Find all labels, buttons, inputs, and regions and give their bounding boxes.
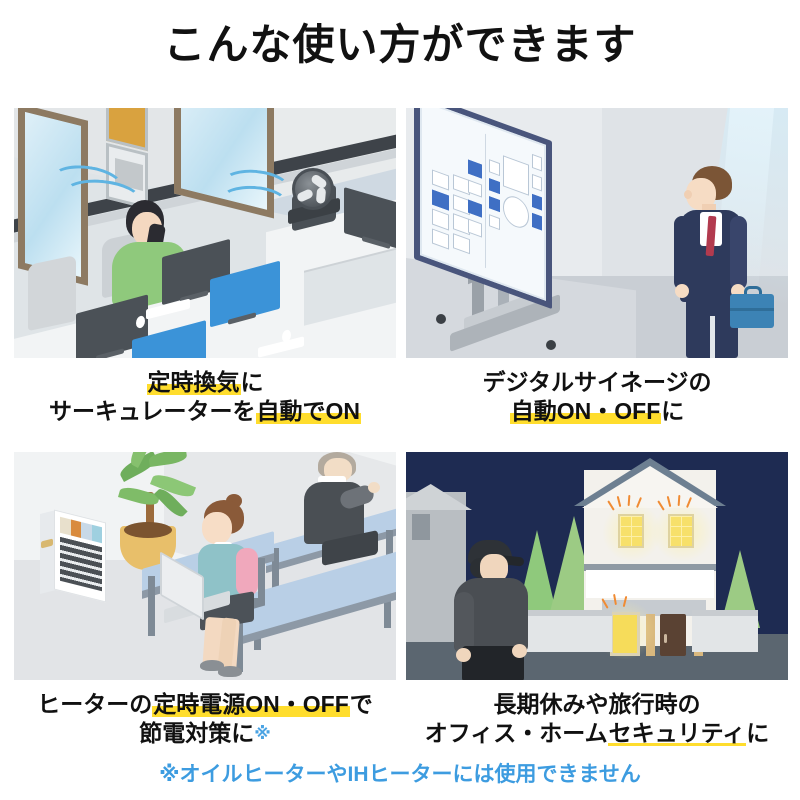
- illustration-waiting-area: [14, 452, 396, 680]
- caption-text: 節電対策に: [139, 720, 254, 746]
- caption-highlight: 定時電源ON・OFF: [152, 691, 350, 717]
- illustration-office: [14, 108, 396, 358]
- poster-page: こんな使い方ができます: [0, 0, 800, 800]
- heater-unit: [40, 510, 114, 598]
- caption-text: に: [241, 369, 264, 395]
- lit-window: [610, 612, 640, 656]
- panel-caption: 定時換気に サーキュレーターを自動でON: [14, 368, 396, 427]
- person-passerby: [454, 540, 554, 680]
- briefcase: [730, 294, 774, 328]
- lit-window: [618, 514, 644, 548]
- caption-text: デジタルサイネージの: [406, 368, 788, 397]
- caption-text: ヒーターの: [37, 691, 152, 717]
- person-laptop-user: [190, 500, 286, 670]
- person-seated-back: [296, 452, 388, 562]
- panel-caption: 長期休みや旅行時の オフィス・ホームセキュリティに: [406, 690, 788, 749]
- front-door: [660, 614, 686, 656]
- caption-text: オフィス・ホーム: [425, 720, 608, 746]
- illustration-night-house: [406, 452, 788, 680]
- lit-window: [668, 514, 694, 548]
- caption-text: 長期休みや旅行時の: [406, 690, 788, 719]
- panel-heater-power: ヒーターの定時電源ON・OFFで 節電対策に※: [14, 452, 396, 749]
- panel-caption: ヒーターの定時電源ON・OFFで 節電対策に※: [14, 690, 396, 749]
- page-title: こんな使い方ができます: [0, 22, 800, 68]
- panel-caption: デジタルサイネージの 自動ON・OFFに: [406, 368, 788, 427]
- caption-highlight: セキュリティ: [608, 720, 747, 746]
- asterisk-mark-icon: ※: [254, 724, 271, 743]
- person-businessman: [674, 166, 770, 358]
- caption-text: で: [350, 691, 373, 717]
- panel-office-circulator: 定時換気に サーキュレーターを自動でON: [14, 108, 396, 427]
- caption-highlight: 定時換気: [147, 369, 241, 395]
- fence-wall: [692, 614, 758, 652]
- caption-highlight: 自動ON・OFF: [510, 398, 662, 424]
- panel-digital-signage: デジタルサイネージの 自動ON・OFFに: [406, 108, 788, 427]
- caption-text: に: [661, 398, 684, 424]
- caption-text: に: [746, 720, 769, 746]
- caption-text: サーキュレーターを: [49, 398, 256, 424]
- caption-highlight: 自動でON: [256, 398, 362, 424]
- circulator-fan: [286, 160, 342, 232]
- illustration-signage: [406, 108, 788, 358]
- footnote-text: ※オイルヒーターやIHヒーターには使用できません: [0, 758, 800, 788]
- panel-home-security: 長期休みや旅行時の オフィス・ホームセキュリティに: [406, 452, 788, 749]
